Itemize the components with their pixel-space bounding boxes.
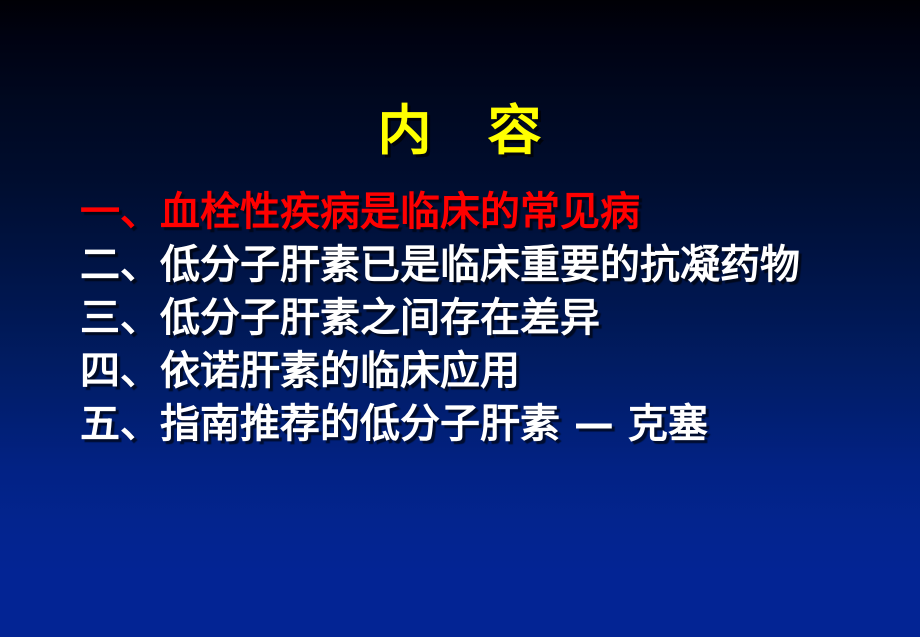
list-item-2: 二、低分子肝素已是临床重要的抗凝药物 [80,239,880,292]
presentation-slide: 内 容 一、血栓性疾病是临床的常见病 二、低分子肝素已是临床重要的抗凝药物 三、… [0,0,920,637]
list-item-1: 一、血栓性疾病是临床的常见病 [80,186,880,239]
content-outline-list: 一、血栓性疾病是临床的常见病 二、低分子肝素已是临床重要的抗凝药物 三、低分子肝… [80,186,880,451]
list-item-4: 四、依诺肝素的临床应用 [80,345,880,398]
list-item-3: 三、低分子肝素之间存在差异 [80,292,880,345]
list-item-5: 五、指南推荐的低分子肝素 — 克塞 [80,398,880,451]
slide-title: 内 容 [0,103,920,160]
